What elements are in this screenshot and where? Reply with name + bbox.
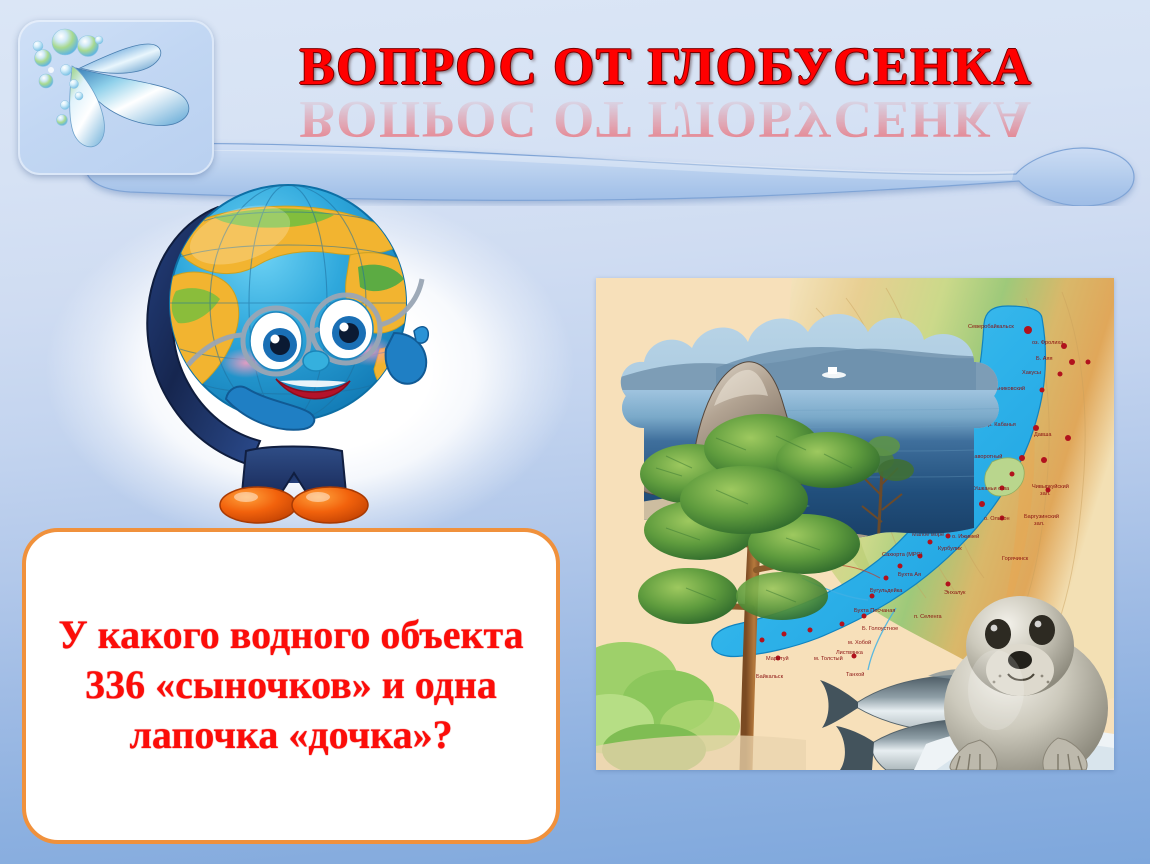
svg-text:Бухта Песчаная: Бухта Песчаная [854, 608, 895, 614]
svg-text:Бугульдейка: Бугульдейка [870, 587, 903, 594]
svg-text:Горячинск: Горячинск [1002, 556, 1029, 562]
svg-text:Курбулик: Курбулик [938, 546, 962, 552]
svg-text:Чивыркуйский: Чивыркуйский [1032, 483, 1069, 490]
water-drops-logo[interactable] [18, 20, 214, 175]
svg-text:Давша: Давша [1034, 432, 1052, 438]
svg-text:оз. Фролиха: оз. Фролиха [1032, 340, 1064, 346]
svg-text:п. Селенга: п. Селенга [914, 614, 942, 620]
svg-text:Бухта Ая: Бухта Ая [898, 572, 921, 578]
lake-baikal-collage: Северобайкальск оз. Фролиха Б. Аяя Хакус… [596, 278, 1114, 770]
svg-text:Сахюрта (МРС): Сахюрта (МРС) [882, 552, 923, 558]
svg-text:Ушканьи о-ва: Ушканьи о-ва [974, 486, 1010, 492]
slide-canvas: ВОПРОС ОТ ГЛОБУСЕНКА ВОПРОС ОТ ГЛОБУСЕНК… [0, 0, 1150, 864]
svg-text:Баргузинский: Баргузинский [1024, 513, 1059, 520]
svg-text:о. Ижимей: о. Ижимей [952, 533, 979, 540]
svg-text:м. Толстый: м. Толстый [814, 655, 843, 662]
svg-text:Б. Аяя: Б. Аяя [1036, 356, 1053, 362]
svg-text:Байкальск: Байкальск [756, 673, 784, 680]
page-title: ВОПРОС ОТ ГЛОБУСЕНКА [286, 38, 1046, 96]
svg-text:Танхой: Танхой [846, 671, 864, 678]
question-callout: У какого водного объекта 336 «сыночков» … [22, 528, 560, 844]
globe-character-icon [118, 183, 468, 528]
svg-text:Маритуй: Маритуй [766, 655, 789, 662]
svg-text:Северобайкальск: Северобайкальск [968, 323, 1014, 330]
svg-text:Хакусы: Хакусы [1022, 370, 1041, 376]
svg-text:о. Ольхон: о. Ольхон [984, 516, 1010, 522]
question-text: У какого водного объекта 336 «сыночков» … [48, 610, 534, 760]
svg-text:зал.: зал. [1034, 521, 1045, 527]
svg-text:м. Хобой: м. Хобой [848, 639, 871, 646]
svg-text:Энхалук: Энхалук [944, 590, 966, 596]
svg-text:Б. Голоустное: Б. Голоустное [862, 626, 898, 632]
svg-text:зал.: зал. [1040, 491, 1051, 497]
